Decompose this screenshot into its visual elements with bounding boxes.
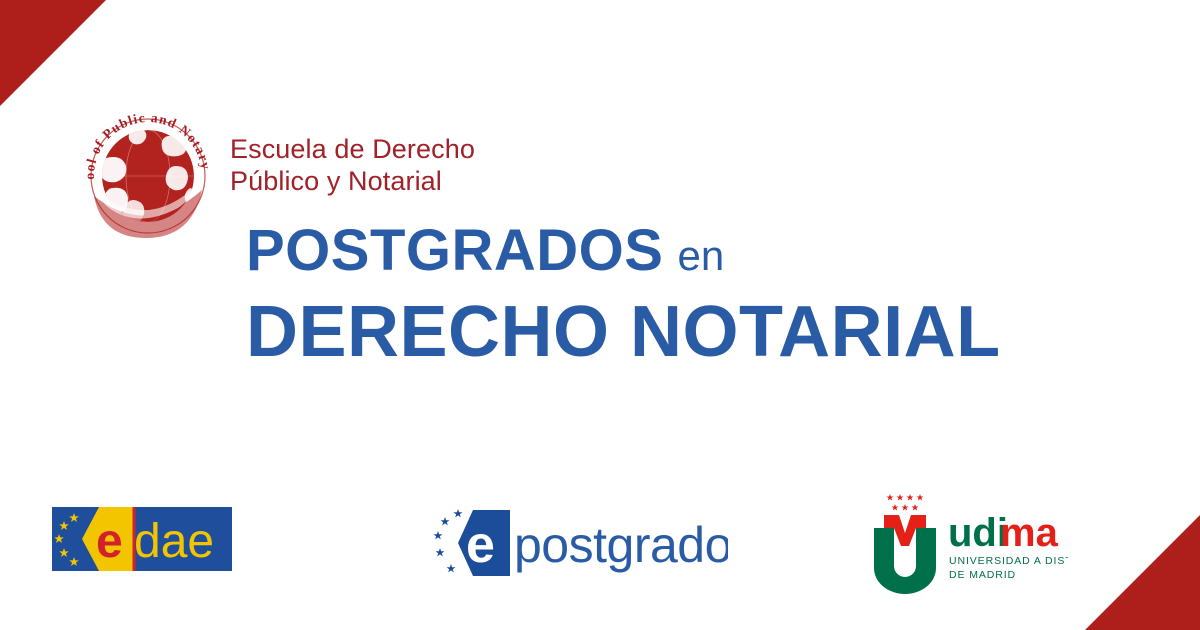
headline: POSTGRADOSen DERECHO NOTARIAL (246, 222, 1001, 368)
promo-banner: School of Public and Notary Law (0, 0, 1200, 630)
school-name-line1: Escuela de Derecho (230, 134, 475, 164)
udima-logo-icon: udi ma UNIVERSIDAD A DISTANCIA DE MADRID (860, 488, 1068, 600)
edae-logo-icon: e dae (52, 507, 232, 571)
partner-logo-udima[interactable]: udi ma UNIVERSIDAD A DISTANCIA DE MADRID… (860, 488, 1068, 600)
partner-logo-strip: e dae dae e postgrado (0, 480, 1200, 610)
epostgrado-logo-icon: e postgrado (418, 504, 728, 582)
globe-emblem-icon: School of Public and Notary Law (72, 92, 224, 244)
headline-line-2: DERECHO NOTARIAL (246, 296, 1001, 368)
svg-text:dae: dae (134, 515, 214, 568)
headline-word-en: en (678, 232, 725, 279)
svg-text:ma: ma (1000, 511, 1059, 555)
partner-logo-epostgrado[interactable]: e postgrado postgrado (418, 504, 728, 582)
svg-text:e: e (96, 515, 123, 568)
headline-line-1: POSTGRADOSen (246, 222, 1001, 280)
svg-text:DE MADRID: DE MADRID (949, 569, 1016, 581)
svg-text:postgrado: postgrado (514, 517, 728, 573)
school-name: Escuela de Derecho Público y Notarial (230, 134, 475, 198)
school-name-line2: Público y Notarial (230, 166, 475, 198)
svg-text:e: e (466, 516, 495, 574)
headline-word-postgrados: POSTGRADOS (246, 218, 664, 283)
partner-logo-edae[interactable]: e dae dae (52, 507, 232, 571)
svg-text:UNIVERSIDAD A DISTANCIA: UNIVERSIDAD A DISTANCIA (949, 555, 1068, 567)
corner-accent-top-left (0, 0, 106, 106)
svg-text:udi: udi (948, 511, 1008, 555)
